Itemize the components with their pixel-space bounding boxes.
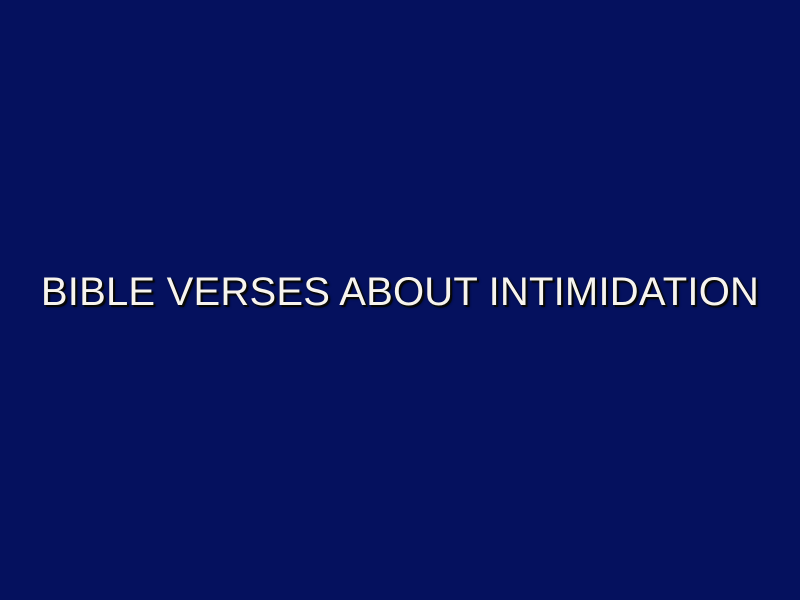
- page-title: BIBLE VERSES ABOUT INTIMIDATION: [41, 272, 759, 312]
- title-container: BIBLE VERSES ABOUT INTIMIDATION: [0, 0, 800, 600]
- slide-canvas: BIBLE VERSES ABOUT INTIMIDATION: [0, 0, 800, 600]
